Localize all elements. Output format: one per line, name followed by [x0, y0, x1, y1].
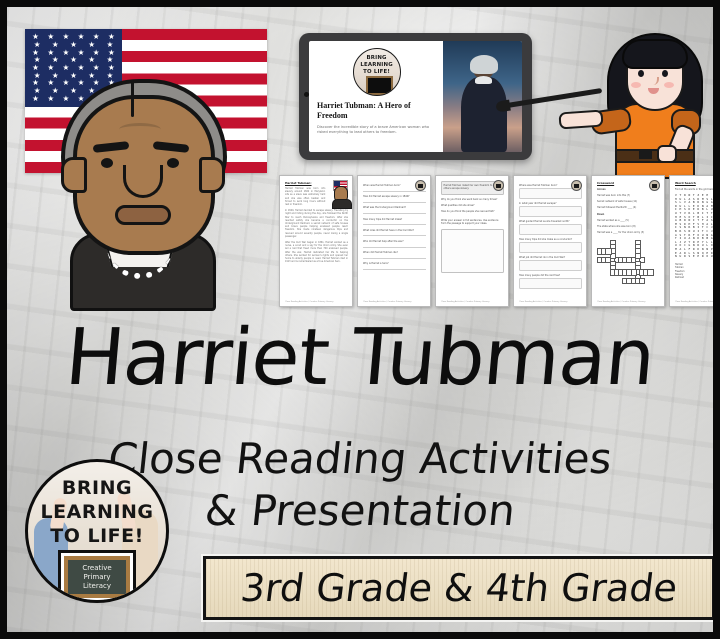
answer-line — [363, 224, 426, 225]
portrait-ear-right — [199, 157, 225, 193]
answer-line — [363, 247, 426, 248]
teacher-blush-right — [664, 82, 674, 88]
word-search-word-list: HarrietTubmanFreedomSlaveryRailroadNurse… — [675, 263, 720, 280]
question-label: Who did Harriet help after the war? — [363, 240, 426, 243]
clue-down: The state where she was born (8) — [597, 225, 660, 228]
clue-down: Harriet worked as a ____ (5) — [597, 219, 660, 222]
teacher-cartoon-illustration — [593, 25, 713, 175]
answer-line — [363, 258, 426, 259]
slide-logo-line2: LEARNING — [354, 62, 400, 68]
clue-across: Secret network of safe houses (11) — [597, 200, 660, 203]
choice-box — [519, 260, 582, 271]
question-label: Why is Harriet a hero? — [363, 262, 426, 265]
answer-line — [363, 213, 426, 214]
passage-paragraph: In 1849, Harriet decided to escape slave… — [285, 209, 348, 238]
teacher-eye-right — [662, 70, 668, 77]
badge-line-3: TO LIFE! — [28, 525, 166, 547]
question-label: What was the Underground Railroad? — [363, 206, 426, 209]
slide-logo-line1: BRING — [354, 55, 400, 61]
flag-star-row: ★★★★★ — [28, 56, 119, 64]
chalkboard-line-2: Primary — [83, 573, 110, 582]
question-label: What guided Harriet as she travelled nor… — [519, 220, 582, 223]
choice-box — [519, 206, 582, 217]
choice-box — [519, 224, 582, 235]
worksheet-preview-row: Harriet Tubman: Harriet Tubman was born … — [279, 175, 720, 307]
passage-paragraph: After the Civil War began in 1861, Harri… — [285, 241, 348, 263]
product-cover: ★★★★★★★★★★★★★★★★★★★★★★★★★★★★★★★★★★★★★★★★… — [0, 0, 720, 639]
worksheet-footer: Close Reading Activities | Creative Prim… — [597, 301, 646, 303]
worksheet-footer: Close Reading Activities | Creative Prim… — [441, 301, 490, 303]
worksheet-heading: Word Search — [675, 181, 720, 185]
chalkboard-line-3: Literacy — [83, 582, 111, 591]
word-search-grid: V T R N T Z E HH U L A S R M S LS L V A … — [675, 194, 720, 259]
question-label: How many people did the raid free? — [519, 274, 582, 277]
answer-line — [363, 269, 426, 270]
worksheet-footer: Close Reading Activities | Creative Prim… — [285, 301, 334, 303]
portrait-eye-left — [101, 158, 113, 168]
star-icon: ★ — [78, 33, 85, 41]
answer-line — [363, 202, 426, 203]
clue-across: Harriet was born into this (7) — [597, 194, 660, 197]
brand-badge-logo: BRING LEARNING TO LIFE! Creative Primary… — [25, 459, 169, 603]
grade-level-text: 3rd Grade & 4th Grade — [238, 566, 679, 610]
word-search-word: Tubman — [675, 266, 685, 269]
question-label: How many trips did she make as a conduct… — [519, 238, 582, 241]
badge-line-1: BRING — [28, 477, 166, 499]
worksheet-footer: Close Reading Activities | Creative Prim… — [519, 301, 568, 303]
worksheet-portrait-icon — [334, 186, 348, 202]
star-icon: ★ — [62, 33, 69, 41]
bullet-item: What qualities did she show? — [441, 204, 504, 207]
slide-body-text: Discover the incredible story of a brave… — [317, 125, 436, 136]
question-label: In what year did Harriet escape? — [519, 202, 582, 205]
bullet-item: Why do you think she went back so many t… — [441, 198, 504, 201]
worksheet-logo-icon — [571, 180, 582, 191]
grade-level-banner: 3rd Grade & 4th Grade — [203, 556, 715, 620]
word-search-word: Railroad — [675, 276, 685, 279]
star-icon: ★ — [32, 95, 39, 103]
badge-line-2: LEARNING — [28, 501, 166, 523]
harriet-tubman-cartoon-portrait — [45, 65, 235, 305]
flag-star-row: ★★★★★ — [28, 41, 119, 49]
crossword-cell — [631, 269, 637, 275]
page-title: Harriet Tubman — [4, 319, 717, 397]
teacher-blush-left — [631, 82, 641, 88]
worksheet-reading-passage: Harriet Tubman: Harriet Tubman was born … — [279, 175, 353, 307]
star-icon: ★ — [62, 49, 69, 57]
clue-down: Harriet was a ____ for the Union Army (3… — [597, 231, 660, 234]
star-icon: ★ — [70, 41, 77, 49]
worksheet-footer: Close Reading Activities | Creative Prim… — [363, 301, 412, 303]
slide-logo-line3: TO LIFE! — [354, 69, 400, 75]
portrait-mouth — [115, 205, 171, 225]
crossword-cell — [647, 269, 653, 275]
answer-line — [363, 235, 426, 236]
word-search-word-column: HarrietTubmanFreedomSlaveryRailroad — [675, 263, 685, 280]
instruction-text: Write your answer in full sentences. Use… — [441, 219, 504, 225]
word-search-row: N U R S E P R O U — [675, 255, 720, 259]
question-label: What job did Harriet do in the Civil War… — [519, 256, 582, 259]
question-label: When did Harriet Tubman die? — [363, 251, 426, 254]
badge-chalkboard-icon: Creative Primary Literacy — [58, 550, 136, 603]
tablet-screen: BRING LEARNING TO LIFE! Harriet Tubman: … — [309, 41, 522, 152]
chalkboard-line-1: Creative — [82, 564, 111, 573]
writing-area — [441, 229, 504, 273]
star-icon: ★ — [70, 56, 77, 64]
worksheet-logo-icon — [649, 180, 660, 191]
answer-line — [363, 191, 426, 192]
worksheet-word-search: Word Search Find all the words in the gr… — [669, 175, 720, 307]
teacher-hand — [657, 145, 677, 163]
choice-box — [519, 242, 582, 253]
teacher-arm-left — [558, 109, 603, 129]
worksheet-short-answer: When was Harriet Tubman born? How did Ha… — [357, 175, 431, 307]
worksheet-crossword: Crossword Across Harriet was born into t… — [591, 175, 665, 307]
instruction-text: Find all the words in the grid below. — [675, 188, 720, 191]
bullet-item: How do you think the people she rescued … — [441, 210, 504, 213]
question-label: How many trips did Harriet make? — [363, 218, 426, 221]
slide-logo-chalkboard-icon — [366, 76, 393, 95]
worksheet-multiple-choice: Where was Harriet Tubman born? In what y… — [513, 175, 587, 307]
portrait-eye-right — [167, 158, 179, 168]
passage-paragraph: Harriet Tubman was born into slavery aro… — [285, 187, 325, 206]
slide-photo-headwrap — [470, 55, 498, 74]
worksheet-extended-response: Harriet Tubman risked her own freedom to… — [435, 175, 509, 307]
teacher-fringe — [622, 39, 688, 69]
portrait-forehead-line — [119, 123, 161, 136]
slide-photo-harriet — [443, 41, 522, 152]
teacher-belt-buckle — [639, 149, 652, 159]
badge-chalkboard-surface: Creative Primary Literacy — [64, 556, 130, 598]
question-label: How did Harriet escape slavery in 1849? — [363, 195, 426, 198]
crossword-cell — [639, 278, 645, 284]
worksheet-logo-icon — [415, 180, 426, 191]
slide-brand-logo: BRING LEARNING TO LIFE! — [353, 48, 401, 96]
down-label: Down — [597, 213, 660, 216]
crossword-grid — [597, 240, 660, 288]
teacher-eye-left — [638, 70, 644, 77]
star-icon: ★ — [78, 49, 85, 57]
slide-photo-body — [461, 77, 506, 152]
worksheet-logo-icon — [493, 180, 504, 191]
worksheet-footer: Close Reading Activities | Creative Prim… — [675, 301, 720, 303]
portrait-hair-part — [131, 81, 134, 117]
slide-photo-collar — [475, 76, 492, 85]
crossword-cell — [605, 248, 611, 254]
clue-across: Harriet followed the North ____ (4) — [597, 206, 660, 209]
teacher-belt — [615, 149, 695, 163]
slide-content-left: BRING LEARNING TO LIFE! Harriet Tubman: … — [309, 41, 443, 152]
question-label: What roles did Harriet have in the Civil… — [363, 229, 426, 232]
tablet-device-mockup: BRING LEARNING TO LIFE! Harriet Tubman: … — [299, 33, 532, 160]
portrait-ear-left — [61, 157, 87, 193]
slide-title: Harriet Tubman: A Hero of Freedom — [317, 101, 436, 121]
crossword-cell — [635, 253, 641, 259]
choice-box — [519, 278, 582, 289]
